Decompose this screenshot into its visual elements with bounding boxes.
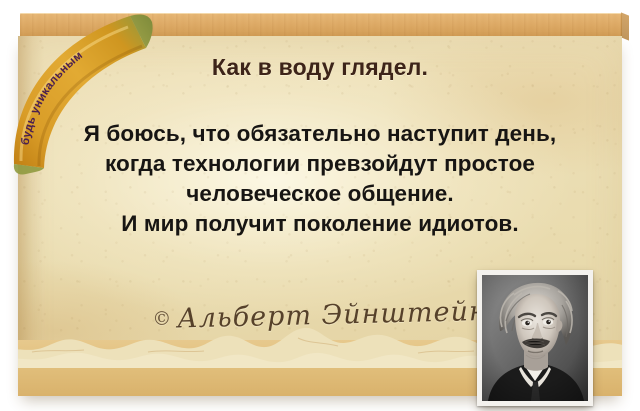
quote-line: И мир получит поколение идиотов.: [0, 209, 640, 239]
corner-ribbon-banner[interactable]: будь уникальным: [0, 0, 180, 178]
poster-canvas: будь уникальным Как в воду глядел. Я бою…: [0, 0, 640, 411]
quote-line: человеческое общение.: [0, 179, 640, 209]
copyright-symbol: ©: [152, 308, 173, 330]
portrait-photo: [482, 275, 588, 401]
portrait-photo-frame: [477, 270, 593, 406]
